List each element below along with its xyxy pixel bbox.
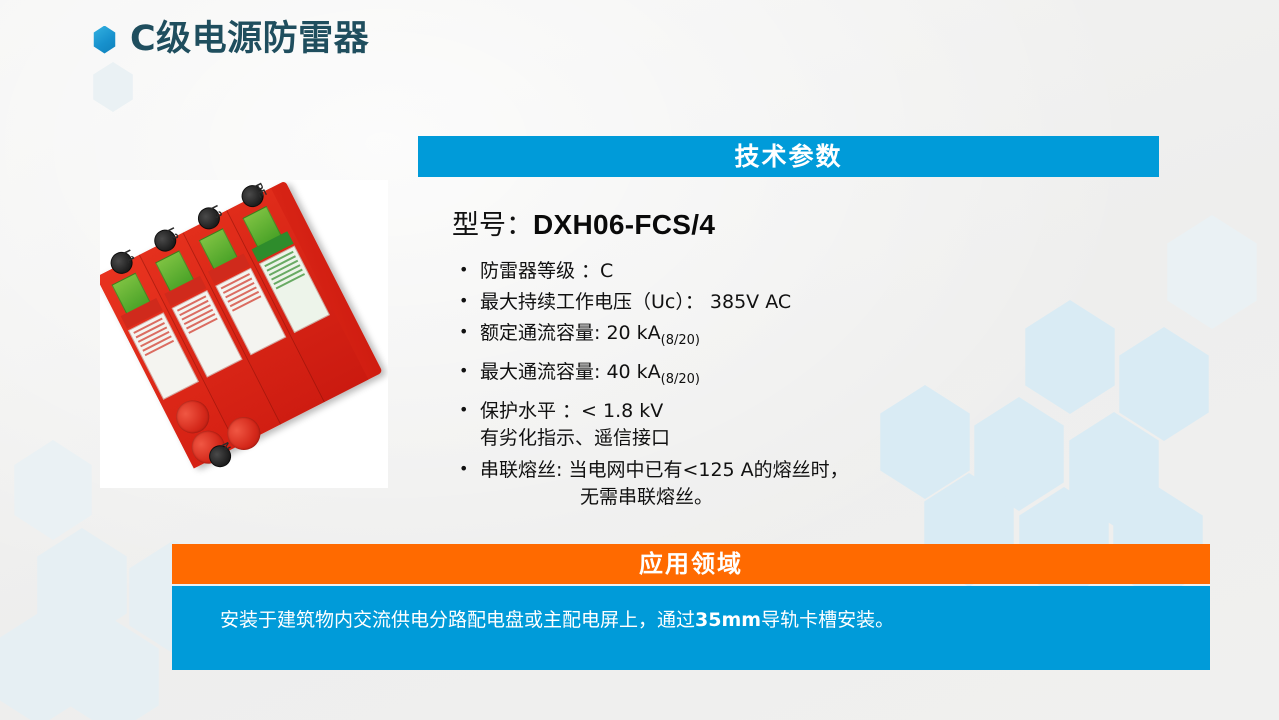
application-body-prefix: 安装于建筑物内交流供电分路配电盘或主配电屏上，通过 [220, 609, 695, 631]
hexagon-icon [90, 62, 136, 112]
page-title-text: C级电源防雷器 [130, 22, 369, 57]
spec-item-uc: 最大持续工作电压（Uc）： 385V AC [455, 289, 1155, 315]
spec-item-continuation: 有劣化指示、遥信接口 [480, 424, 1155, 452]
spec-list: 防雷器等级 ：C 最大持续工作电压（Uc）： 385V AC 额定通流容量: 2… [455, 258, 1155, 516]
application-body-text: 安装于建筑物内交流供电分路配电盘或主配电屏上，通过35mm导轨卡槽安装。 [220, 607, 894, 633]
hexagon-icon [8, 440, 98, 540]
spd-device-graphic: L1 L2 L3 PE N [100, 181, 388, 487]
model-value: DXH06-FCS/4 [533, 209, 715, 241]
application-body: 安装于建筑物内交流供电分路配电盘或主配电屏上，通过35mm导轨卡槽安装。 [172, 586, 1210, 670]
spec-item-text: 防雷器等级 ：C [480, 260, 613, 282]
tech-params-header: 技术参数 [418, 136, 1159, 177]
spec-item-in: 额定通流容量: 20 kA(8/20) [455, 320, 1155, 354]
model-label: 型号： [452, 203, 533, 242]
spec-item-subscript: (8/20) [661, 333, 700, 348]
spec-item-text: 最大通流容量: 40 kA [480, 361, 661, 383]
hexagon-icon [1160, 215, 1264, 329]
spec-item-text: 额定通流容量: 20 kA [480, 322, 661, 344]
hexagon-icon [62, 620, 166, 720]
model-line: 型号： DXH06-FCS/4 [452, 203, 715, 242]
product-image: L1 L2 L3 PE N [100, 180, 388, 488]
spec-item-continuation: 无需串联熔丝。 [480, 483, 1155, 511]
slide-root: C级电源防雷器 [0, 0, 1279, 720]
spd-body: L1 L2 L3 PE N [100, 181, 383, 469]
hexagon-icon [30, 528, 134, 642]
spec-item-up: 保护水平 ：< 1.8 kV 有劣化指示、遥信接口 [455, 398, 1155, 452]
application-body-suffix: 导轨卡槽安装。 [761, 609, 894, 631]
spec-item-text: 串联熔丝: 当电网中已有<125 A的熔丝时， [480, 459, 849, 481]
hexagon-icon [0, 612, 92, 720]
hexagon-bullet-icon [92, 26, 117, 54]
spec-item-grade: 防雷器等级 ：C [455, 258, 1155, 284]
application-header-text: 应用领域 [639, 552, 743, 576]
page-title: C级电源防雷器 [92, 22, 369, 57]
product-image-inner: L1 L2 L3 PE N [100, 180, 388, 488]
application-body-strong: 35mm [695, 609, 761, 631]
tech-params-header-text: 技术参数 [734, 144, 842, 169]
application-header: 应用领域 [172, 544, 1210, 584]
spec-item-imax: 最大通流容量: 40 kA(8/20) [455, 359, 1155, 393]
spec-item-fuse: 串联熔丝: 当电网中已有<125 A的熔丝时， 无需串联熔丝。 [455, 457, 1155, 511]
spec-item-subscript: (8/20) [661, 372, 700, 387]
spec-item-text: 最大持续工作电压（Uc）： 385V AC [480, 291, 791, 313]
spec-item-text: 保护水平 ：< 1.8 kV [480, 400, 663, 422]
